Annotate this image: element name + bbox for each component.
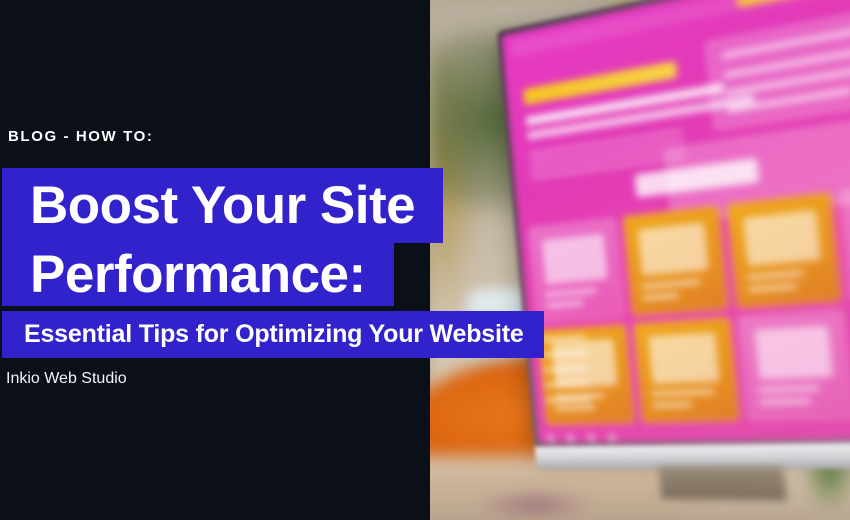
social-icon xyxy=(608,434,616,441)
link-line xyxy=(542,351,588,358)
product-line xyxy=(747,284,796,292)
product-line xyxy=(651,390,714,397)
product-thumb xyxy=(637,222,709,276)
product-line xyxy=(759,399,811,405)
product-line xyxy=(545,288,596,296)
product-line xyxy=(642,293,679,300)
social-icon xyxy=(588,435,596,442)
product-card xyxy=(622,205,728,315)
hero-photo xyxy=(430,0,850,520)
social-icon xyxy=(547,435,554,442)
link-line xyxy=(546,397,592,403)
product-line xyxy=(652,403,692,408)
product-card xyxy=(726,192,842,308)
product-thumb xyxy=(742,210,821,267)
blog-banner-canvas: BLOG - HOW TO: Boost Your Site Performan… xyxy=(0,0,850,520)
side-panel xyxy=(705,2,850,131)
monitor-stand xyxy=(535,441,850,469)
product-card xyxy=(528,217,624,322)
product-thumb xyxy=(648,333,721,384)
product-line xyxy=(641,279,701,288)
monitor-screen xyxy=(501,0,850,444)
link-line xyxy=(543,366,589,372)
page-title-line-1: Boost Your Site xyxy=(2,168,443,243)
page-subtitle: Essential Tips for Optimizing Your Websi… xyxy=(2,311,544,358)
link-line xyxy=(544,382,590,388)
monitor-foot xyxy=(658,467,787,501)
product-line xyxy=(546,301,584,308)
blog-kicker-label: BLOG - HOW TO: xyxy=(8,128,153,145)
monitor-bezel xyxy=(497,0,850,449)
page-title-line-2: Performance: xyxy=(2,243,394,306)
social-icon xyxy=(567,435,575,442)
product-card xyxy=(633,316,740,423)
author-byline: Inkio Web Studio xyxy=(6,370,127,388)
product-card xyxy=(840,177,850,300)
left-link-list xyxy=(540,335,599,417)
product-card xyxy=(737,309,850,421)
product-thumb xyxy=(542,233,608,285)
product-line xyxy=(757,386,820,393)
product-thumb xyxy=(754,326,834,380)
computer-monitor xyxy=(497,0,850,506)
product-line xyxy=(746,270,804,279)
